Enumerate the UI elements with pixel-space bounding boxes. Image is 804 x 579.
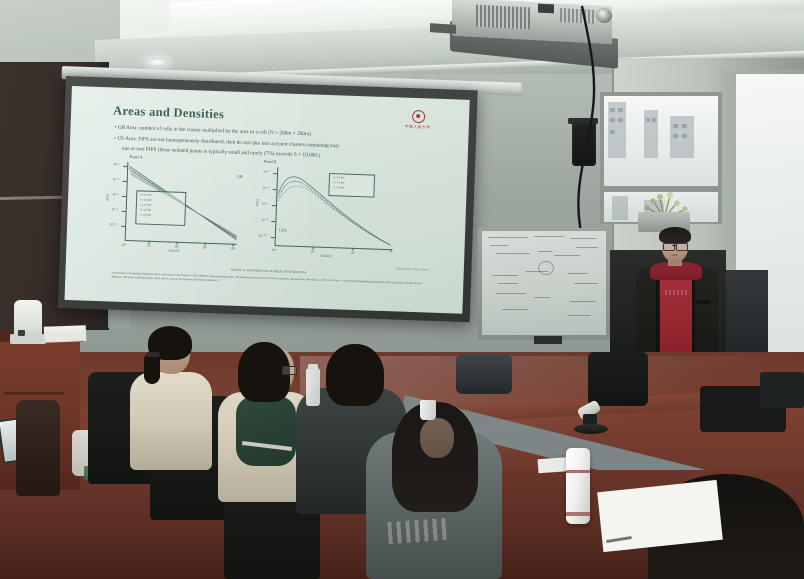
microphone-base[interactable]	[574, 424, 608, 434]
panel-b-label: Panel B	[263, 159, 276, 164]
panel-a-legend-item-3: t = 1.5 km	[140, 208, 152, 211]
slide-title: Areas and Densities	[113, 103, 224, 122]
attendee-3-hair	[326, 344, 384, 406]
panel-b-ylabel: P(A)	[255, 199, 259, 206]
chair-6[interactable]	[456, 354, 512, 394]
water-bottle[interactable]	[306, 368, 320, 406]
side-cabinet-drawer-line	[4, 392, 64, 395]
panel-b-xlabel: A (km²)	[320, 254, 331, 258]
slide: Areas and Densities 中国人民大学 • GB Area: nu…	[65, 86, 470, 314]
thermos-band-lower	[566, 512, 590, 516]
slide-corner-note: Data Sources: NSO, Census	[396, 267, 452, 272]
panel-a-legend-item-2: t = 1.0 km	[140, 203, 152, 206]
panel-b-legend-item-1: t = 1.0 km	[333, 181, 345, 184]
panel-b-ytick-5: 10⁻¹⁰	[259, 234, 267, 238]
panel-a-chart: Panel A 10⁻² 10⁻⁴ 10⁻⁶ 10⁻⁸ 10⁻¹⁰ 10⁰ 10…	[96, 153, 249, 258]
attendee-1-hairtie	[146, 352, 160, 357]
panel-a-region-label: GB	[237, 174, 243, 179]
panel-a-ytick-4: 10⁻⁸	[112, 207, 119, 211]
presenter-hair	[659, 227, 691, 244]
panel-b-ytick-3: 10⁻⁶	[262, 202, 269, 206]
panel-b-ytick-2: 10⁻⁴	[262, 186, 269, 190]
presenter-hoodie-print	[665, 290, 687, 295]
panel-b-xtick-1: 10⁰	[271, 248, 276, 252]
panel-b-chart: Panel B GB 10⁻² 10⁻⁴ 10⁻⁶ 10⁻⁸ 10⁻¹⁰ 10⁰…	[252, 158, 415, 264]
projection-screen: Areas and Densities 中国人民大学 • GB Area: nu…	[65, 86, 470, 314]
attendee-4-print	[387, 518, 448, 544]
attendee-2-sleeve	[236, 396, 296, 466]
projector-connector	[430, 23, 456, 34]
panel-a-ytick-1: 10⁻²	[113, 162, 119, 166]
panel-a-xtick-5: 10⁴	[230, 247, 235, 251]
panel-b-ytick-1: 10⁻²	[263, 170, 269, 174]
panel-a-legend: t = 0.2 km t = 0.5 km t = 1.0 km t = 1.5…	[135, 190, 186, 226]
panel-a-legend-item-0: t = 0.2 km	[140, 193, 152, 196]
panel-a-ytick-3: 10⁻⁶	[112, 192, 119, 196]
panel-a-label: Panel A	[129, 154, 142, 159]
whiteboard	[482, 231, 606, 335]
water-dispenser-spout[interactable]	[18, 330, 25, 336]
panel-a-xlabel: A (km²)	[168, 248, 179, 252]
attendee-1-coat	[130, 372, 212, 470]
panel-a-xtick-1: 10⁰	[121, 243, 126, 247]
logo-text: 中国人民大学	[397, 124, 439, 130]
university-logo: 中国人民大学	[397, 109, 440, 134]
chair-4[interactable]	[16, 400, 60, 496]
panel-a-xtick-4: 10³	[202, 246, 207, 250]
whiteboard-stand	[534, 336, 562, 344]
chair-5[interactable]	[588, 352, 648, 406]
recessed-downlight	[146, 58, 168, 66]
equipment-case-secondary	[760, 372, 804, 408]
panel-b-legend-item-0: t = 0.5 km	[333, 176, 345, 179]
attendee-4-face	[420, 418, 454, 458]
panel-b-legend-item-2: t = 2.0 km	[333, 186, 345, 189]
panel-b-legend: t = 0.5 km t = 1.0 km t = 2.0 km	[328, 173, 375, 198]
panel-a-ytick-2: 10⁻⁴	[113, 177, 120, 181]
panel-a-ylabel: P(A)	[105, 194, 109, 201]
panel-a-legend-item-1: t = 0.5 km	[140, 198, 152, 201]
logo-mark-icon	[411, 110, 424, 123]
panel-b-xtick-2: 10²	[310, 249, 315, 253]
panel-b-ytick-4: 10⁻⁸	[261, 218, 268, 222]
panel-a-ytick-5: 10⁻¹⁰	[109, 222, 117, 226]
panel-b-xtick-3: 10⁴	[350, 251, 355, 255]
presenter-jacket-pocket	[696, 300, 710, 304]
panel-a-xtick-2: 10¹	[146, 244, 151, 248]
water-bottle-cap[interactable]	[308, 364, 318, 370]
presenter-glasses-bridge	[672, 245, 677, 246]
presenter-mouth	[671, 254, 678, 256]
panel-a-legend-item-4: t = 2.0 km	[139, 213, 151, 216]
paper-cup[interactable]	[420, 400, 436, 420]
water-dispenser-base	[10, 334, 46, 344]
conference-room-photo: Areas and Densities 中国人民大学 • GB Area: nu…	[0, 0, 804, 579]
presenter-glasses-right-lens	[676, 243, 688, 251]
attendee-2-glasses	[282, 366, 297, 375]
thermos-band-upper	[566, 470, 590, 473]
